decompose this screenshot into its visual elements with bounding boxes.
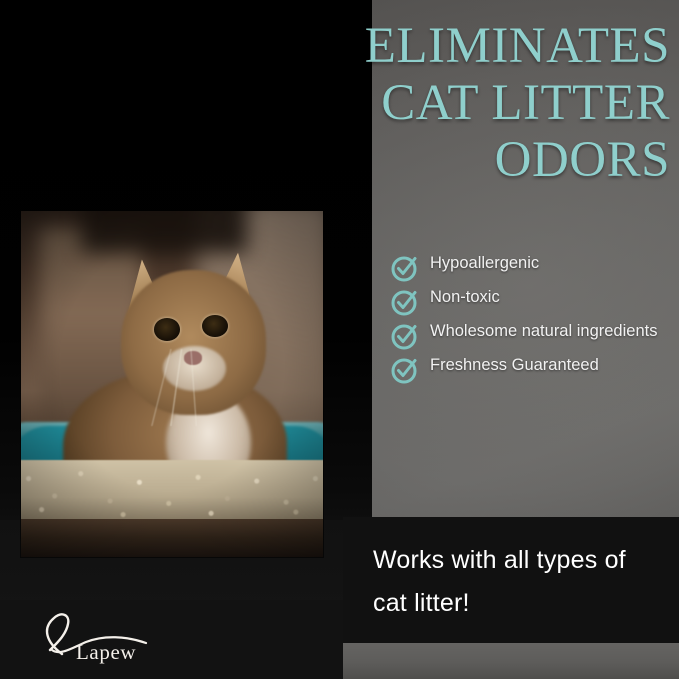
benefit-item: Non-toxic (390, 286, 675, 317)
check-circle-icon (390, 321, 420, 351)
benefit-item: Wholesome natural ingredients (390, 320, 675, 351)
check-circle-icon (390, 355, 420, 385)
headline-line-2: CAT LITTER (300, 75, 670, 132)
check-circle-icon (390, 287, 420, 317)
benefit-label: Freshness Guaranteed (430, 354, 599, 377)
benefit-label: Non-toxic (430, 286, 500, 309)
benefits-list: Hypoallergenic Non-toxic Wholesome natur… (390, 252, 675, 388)
brand-logo: Lapew (28, 604, 168, 666)
headline-line-3: ODORS (300, 132, 670, 189)
check-circle-icon (390, 253, 420, 283)
benefit-label: Hypoallergenic (430, 252, 539, 275)
callout-text: Works with all types of cat litter! (373, 539, 659, 625)
kitten-litter-box-photo (21, 211, 323, 557)
callout-box: Works with all types of cat litter! (343, 517, 679, 643)
brand-wordmark: Lapew (76, 640, 136, 665)
headline: ELIMINATES CAT LITTER ODORS (300, 18, 670, 189)
photo-vignette (21, 211, 323, 557)
product-ad-image: ELIMINATES CAT LITTER ODORS (0, 0, 679, 679)
benefit-label: Wholesome natural ingredients (430, 320, 657, 343)
benefit-item: Hypoallergenic (390, 252, 675, 283)
headline-line-1: ELIMINATES (300, 18, 670, 75)
benefit-item: Freshness Guaranteed (390, 354, 675, 385)
